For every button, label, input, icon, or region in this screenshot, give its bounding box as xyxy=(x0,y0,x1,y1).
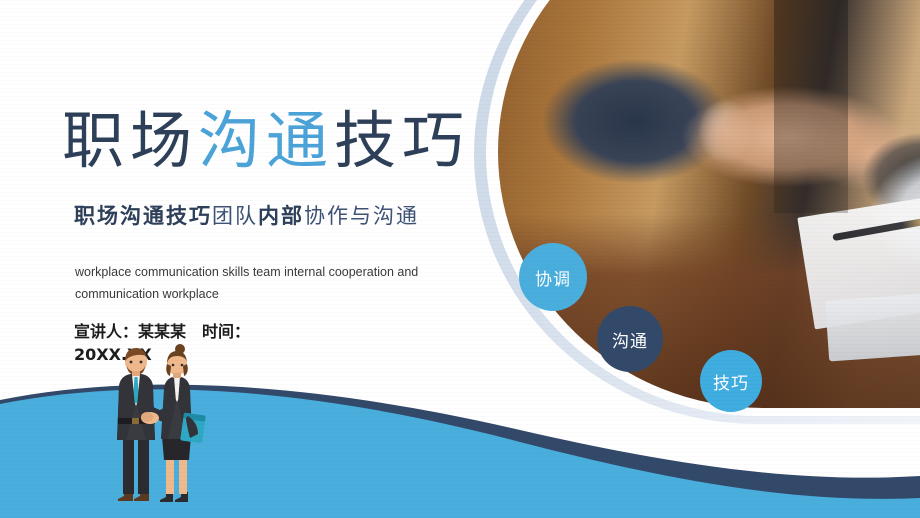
badge-skills[interactable]: 技巧 xyxy=(700,350,762,412)
presenter-line-1: 宣讲人：某某某 时间： xyxy=(74,320,304,343)
subtitle-seg-5: 协作与沟通 xyxy=(304,204,419,228)
badge-coordination-label: 协调 xyxy=(535,265,571,290)
badge-coordination[interactable]: 协调 xyxy=(519,243,587,311)
illustration-clasped-hands xyxy=(141,412,159,424)
subtitle-seg-1: 职场 xyxy=(74,204,120,228)
photo-keyboard xyxy=(825,290,920,362)
english-subtitle-line-1: workplace communication skills team inte… xyxy=(75,262,465,284)
hero-photo xyxy=(498,0,920,408)
badge-communication[interactable]: 沟通 xyxy=(597,306,663,372)
title-part-1: 职场 xyxy=(62,104,198,177)
subtitle-seg-2: 沟通技巧 xyxy=(120,204,212,228)
badge-skills-label: 技巧 xyxy=(713,369,749,394)
page-title: 职场沟通技巧 xyxy=(62,108,470,173)
title-part-3: 技巧 xyxy=(334,104,470,177)
subtitle-seg-3: 团队 xyxy=(212,204,258,228)
subtitle-seg-4: 内部 xyxy=(258,204,304,228)
english-subtitle-line-2: communication workplace xyxy=(75,284,465,306)
illustration-woman xyxy=(148,344,206,502)
subtitle: 职场沟通技巧团队内部协作与沟通 xyxy=(74,200,419,230)
title-part-2: 沟通 xyxy=(198,104,334,177)
english-subtitle: workplace communication skills team inte… xyxy=(75,262,465,306)
slide-canvas: 协调 沟通 技巧 职场沟通技巧 职场沟通技巧团队内部协作与沟通 workplac… xyxy=(0,0,920,518)
handshake-photo-image xyxy=(498,0,920,408)
handshake-illustration xyxy=(88,344,216,502)
badge-communication-label: 沟通 xyxy=(612,327,648,352)
